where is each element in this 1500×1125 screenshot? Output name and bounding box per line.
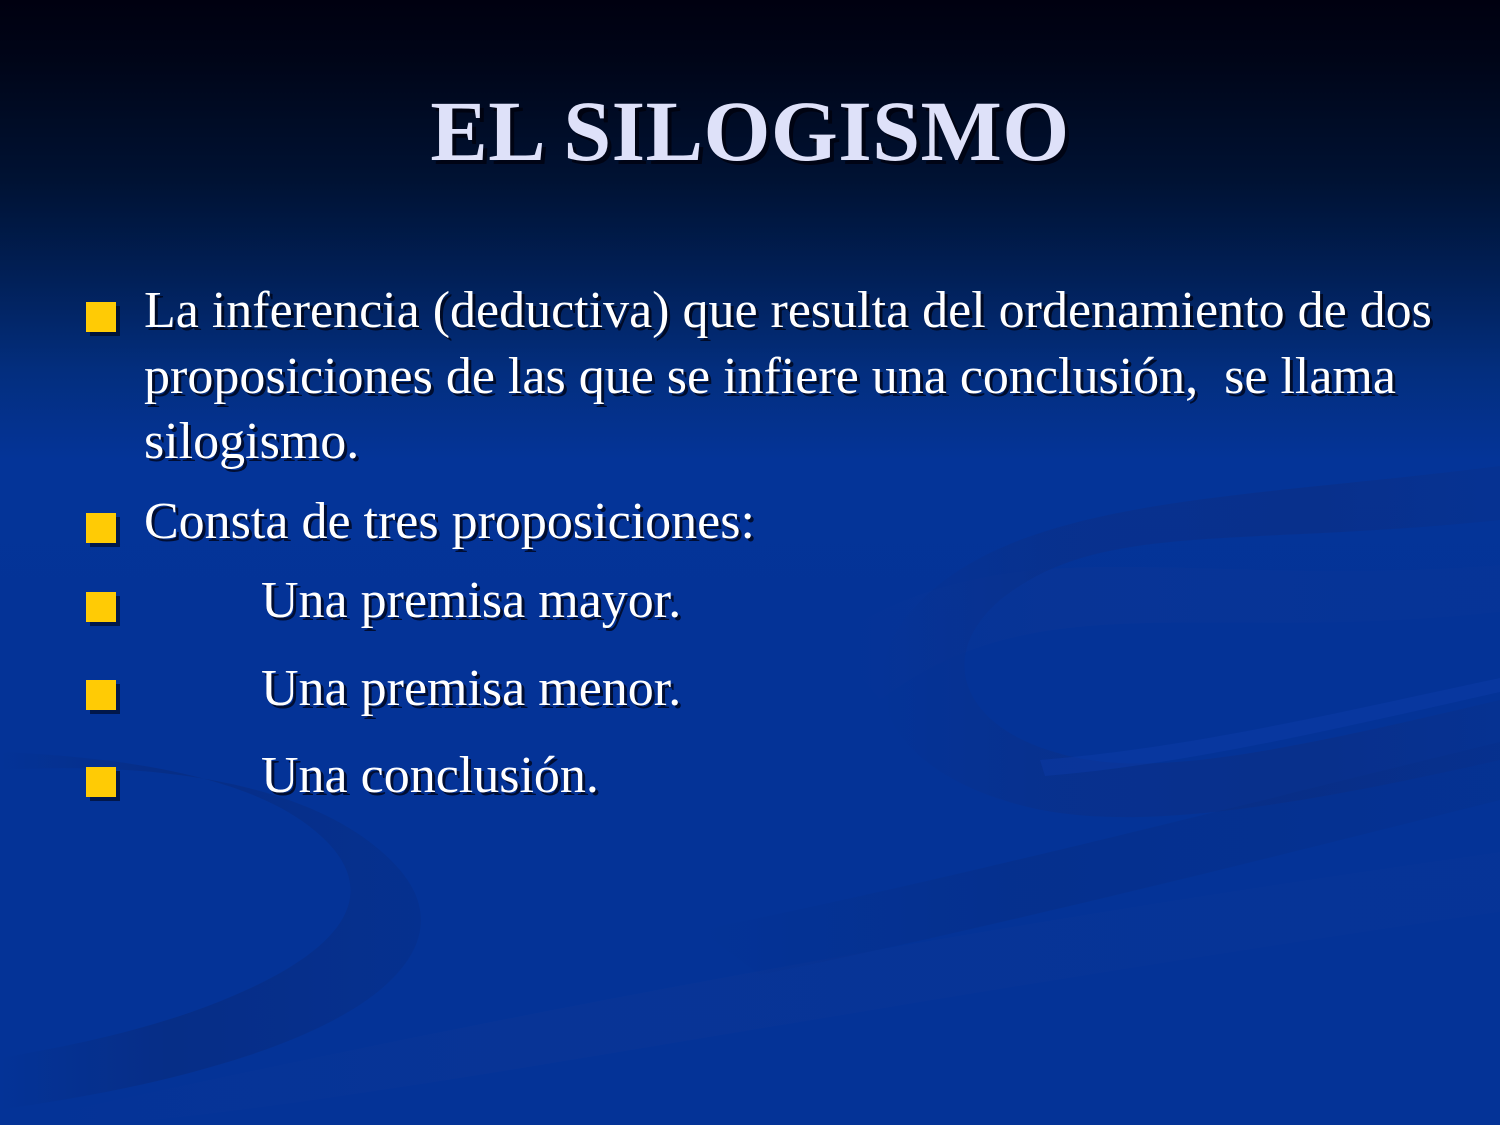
bullet-list-item[interactable]: La inferencia (deductiva) que resulta de… xyxy=(86,278,1446,475)
square-bullet-icon xyxy=(86,680,116,710)
square-bullet-icon xyxy=(86,513,116,543)
bullet-list-item[interactable]: Una premisa mayor. xyxy=(86,568,1446,634)
slide-body-content: La inferencia (deductiva) que resulta de… xyxy=(86,278,1446,831)
bullet-item-text: Una premisa menor. xyxy=(116,656,1446,722)
square-bullet-icon xyxy=(86,592,116,622)
square-bullet-icon xyxy=(86,302,116,332)
slide-title: EL SILOGISMO xyxy=(0,88,1500,176)
presentation-slide: EL SILOGISMO La inferencia (deductiva) q… xyxy=(0,0,1500,1125)
square-bullet-icon xyxy=(86,767,116,797)
bullet-item-text: Una premisa mayor. xyxy=(116,568,1446,634)
bullet-item-text: Consta de tres proposiciones: xyxy=(116,489,1446,555)
bullet-list-item[interactable]: Una conclusión. xyxy=(86,743,1446,809)
bullet-item-text: Una conclusión. xyxy=(116,743,1446,809)
bullet-list-item[interactable]: Consta de tres proposiciones: xyxy=(86,489,1446,555)
bullet-list-item[interactable]: Una premisa menor. xyxy=(86,656,1446,722)
bullet-item-text: La inferencia (deductiva) que resulta de… xyxy=(116,278,1446,475)
